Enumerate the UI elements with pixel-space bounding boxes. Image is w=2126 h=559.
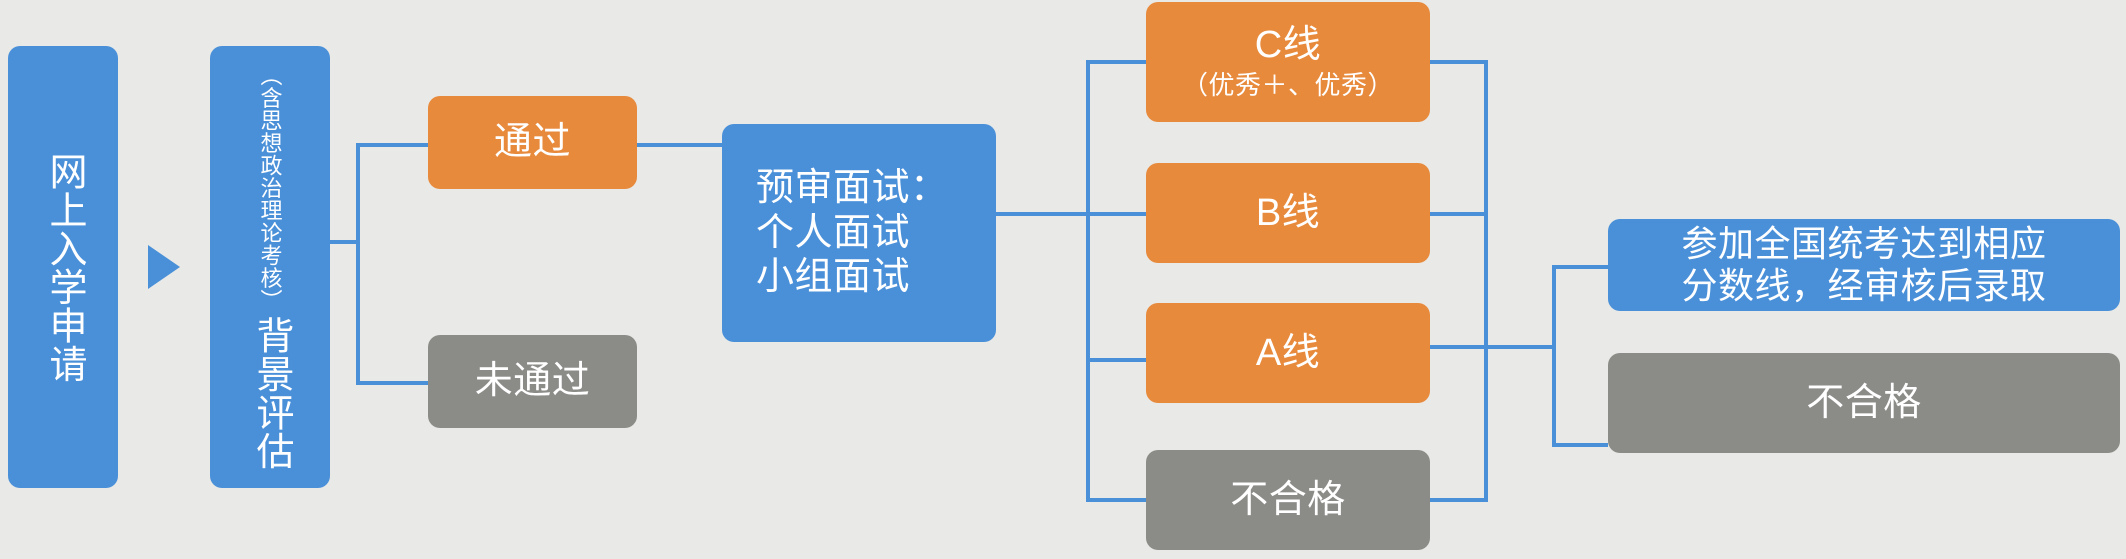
node-grade-c[interactable]: C线 （优秀＋、优秀）	[1146, 2, 1430, 122]
node-not-qualified-result-label: 不合格	[1806, 381, 1922, 426]
connector-to-grade-b	[1086, 212, 1146, 216]
connector-merge-vertical	[1484, 60, 1488, 502]
node-admitted-line1: 参加全国统考达到相应	[1681, 223, 2046, 265]
node-fail-label: 未通过	[475, 359, 591, 404]
node-grade-unqualified-label: 不合格	[1230, 478, 1346, 523]
node-grade-c-note: （优秀＋、优秀）	[1182, 70, 1394, 101]
node-pass-label: 通过	[494, 120, 571, 165]
connector-to-admitted	[1552, 265, 1608, 269]
connector-to-pass	[356, 143, 428, 147]
node-admitted[interactable]: 参加全国统考达到相应 分数线，经审核后录取	[1608, 219, 2120, 311]
connector-grade-a-out	[1430, 345, 1488, 349]
connector-results-vertical	[1552, 265, 1556, 447]
node-grade-b[interactable]: B线	[1146, 163, 1430, 263]
connector-to-grade-unqualified	[1086, 498, 1146, 502]
node-preinterview-line1: 预审面试：	[756, 166, 949, 211]
connector-to-grade-c	[1086, 60, 1146, 64]
connector-grade-unqualified-out	[1430, 498, 1488, 502]
node-preinterview-line2: 个人面试	[756, 211, 910, 256]
connector-preinterview-stem	[996, 212, 1090, 216]
play-triangle-icon	[148, 245, 180, 289]
node-grade-a[interactable]: A线	[1146, 303, 1430, 403]
connector-pass-to-preinterview	[637, 143, 722, 147]
connector-grade-c-out	[1430, 60, 1488, 64]
connector-merge-to-results	[1484, 345, 1556, 349]
node-background-eval-note: （含思想政治理论考核）	[258, 64, 281, 312]
node-online-application[interactable]: 网上入学申请	[8, 46, 118, 488]
connector-to-fail	[356, 381, 428, 385]
node-preinterview[interactable]: 预审面试： 个人面试 小组面试	[722, 124, 996, 342]
node-grade-c-label: C线	[1255, 23, 1321, 68]
connector-eval-vertical	[356, 143, 360, 383]
node-grade-unqualified[interactable]: 不合格	[1146, 450, 1430, 550]
node-grade-b-label: B线	[1256, 191, 1320, 236]
node-preinterview-line3: 小组面试	[756, 255, 910, 300]
node-admitted-line2: 分数线，经审核后录取	[1681, 265, 2046, 307]
node-online-application-label: 网上入学申请	[43, 152, 83, 383]
connector-grade-vertical	[1086, 60, 1090, 502]
node-fail[interactable]: 未通过	[428, 335, 637, 428]
connector-grade-b-out	[1430, 212, 1488, 216]
node-pass[interactable]: 通过	[428, 96, 637, 189]
node-not-qualified-result[interactable]: 不合格	[1608, 353, 2120, 453]
node-background-eval[interactable]: （含思想政治理论考核） 背景评估	[210, 46, 330, 488]
node-background-eval-label: 背景评估	[250, 316, 290, 470]
node-grade-a-label: A线	[1256, 331, 1320, 376]
connector-to-grade-a	[1086, 358, 1146, 362]
flowchart-canvas: 网上入学申请 （含思想政治理论考核） 背景评估 通过 未通过 预审面试： 个人面…	[0, 0, 2126, 559]
connector-to-not-qualified	[1552, 443, 1608, 447]
